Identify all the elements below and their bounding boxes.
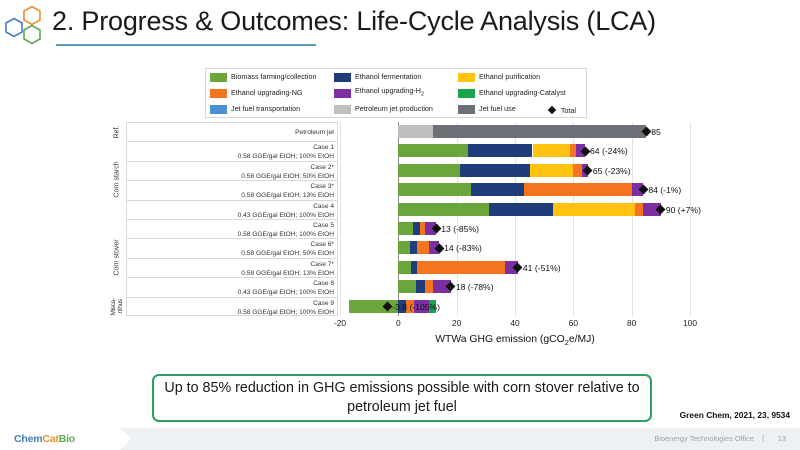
bar-value-label: 64 (-24%) <box>590 145 628 158</box>
footer-page-number: 13 <box>778 434 786 443</box>
legend-item-petroleum-jet-production: Petroleum jet production <box>334 101 458 117</box>
legend-swatch-icon <box>458 89 475 98</box>
gridline <box>690 122 691 316</box>
slide-header: 2. Progress & Outcomes: Life-Cycle Analy… <box>0 0 800 56</box>
legend-label: Jet fuel use <box>479 105 516 112</box>
legend-item-ethanol-upgrading-ng: Ethanol upgrading-NG <box>210 85 334 101</box>
bar-value-label: 18 (-78%) <box>456 281 494 294</box>
legend-label: Ethanol upgrading-NG <box>231 89 303 96</box>
legend-swatch-icon <box>458 105 475 114</box>
category-case-name: Case 4 <box>127 202 334 211</box>
bar-row[interactable]: 18 (-78%) <box>340 277 690 296</box>
bar-segment-biomass-farming <box>398 222 413 235</box>
chart-plot-area: Petroleum jetCase 10.58 GGE/gal EtOH; 10… <box>110 122 690 366</box>
bar-segment-ethanol-fermentation <box>489 203 553 216</box>
bar-row[interactable]: 64 (-24%) <box>340 141 690 160</box>
bar-value-label: 90 (+7%) <box>666 204 701 217</box>
legend-swatch-icon <box>458 73 475 82</box>
category-case-detail: 0.58 GGE/gal EtOH; 100% EtOH <box>127 308 334 317</box>
citation-text: Green Chem, 2021, 23, 9534 <box>680 410 790 420</box>
bar-segment-ethanol-upgrading-ng <box>635 203 644 216</box>
legend-label: Biomass farming/collection <box>231 73 317 80</box>
category-case-name: Case 1 <box>127 143 334 152</box>
bar-segment-ethanol-fermentation <box>468 144 532 157</box>
category-label-text: Petroleum jet <box>127 124 334 142</box>
category-axis-labels: Petroleum jetCase 10.58 GGE/gal EtOH; 10… <box>110 122 340 316</box>
bar-segment-ethanol-upgrading-ng <box>417 261 505 274</box>
bar-segment-biomass-farming <box>398 164 459 177</box>
legend-label: Ethanol fermentation <box>355 73 421 80</box>
bar-value-label: 84 (-1%) <box>648 184 681 197</box>
category-case-name: Case 6* <box>127 240 334 249</box>
category-label-row: Case 6*0.58 GGE/gal EtOH; 50% EtOH <box>126 238 338 257</box>
bar-value-label: 85 <box>651 126 661 139</box>
legend-item-ethanol-fermentation: Ethanol fermentation <box>334 69 458 85</box>
category-label-row: Case 7*0.58 GGE/gal EtOH; 13% EtOH <box>126 258 338 277</box>
x-tick-label: 40 <box>510 318 519 328</box>
category-case-name: Case 5 <box>127 221 334 230</box>
bar-segment-ethanol-purification <box>533 144 571 157</box>
bar-segment-ethanol-upgrading-ng <box>417 241 429 254</box>
bar-row[interactable]: 13 (-85%) <box>340 219 690 238</box>
group-label: Misca-nthus <box>110 297 124 316</box>
brand-cat: Cat <box>42 433 58 445</box>
category-label-row: Case 40.43 GGE/gal EtOH; 100% EtOH <box>126 200 338 219</box>
legend-item-biomass-farming: Biomass farming/collection <box>210 69 334 85</box>
x-axis-ticks: -20020406080100 <box>340 318 690 332</box>
bar-segment-ethanol-purification <box>553 203 635 216</box>
bar-row[interactable]: -3.8 (-105%) <box>340 297 690 316</box>
bar-value-label: 65 (-23%) <box>593 165 631 178</box>
legend-item-ethanol-upgrading-catalyst: Ethanol upgrading-Catalyst <box>458 85 582 101</box>
x-tick-label: 20 <box>452 318 461 328</box>
bar-segment-ethanol-upgrading-ng <box>425 280 434 293</box>
bar-segment-biomass-farming <box>398 203 488 216</box>
category-label-row: Case 50.58 GGE/gal EtOH; 100% EtOH <box>126 219 338 238</box>
legend-total-label: Total <box>561 107 576 114</box>
bar-value-label: 13 (-85%) <box>441 223 479 236</box>
category-case-name: Case 9 <box>127 299 334 308</box>
brand-chem: Chem <box>14 433 42 445</box>
slide-footer: ChemCatBio Bioenergy Technologies Office… <box>0 428 800 450</box>
bar-segment-biomass-farming <box>398 183 471 196</box>
x-tick-label: 0 <box>396 318 401 328</box>
legend-swatch-icon <box>210 73 227 82</box>
bar-segment-biomass-farming <box>398 144 468 157</box>
legend-label: Ethanol upgrading-Catalyst <box>479 89 566 96</box>
x-axis-title: WTWa GHG emission (gCO2e/MJ) <box>340 334 690 347</box>
chart-legend: Biomass farming/collectionEthanol fermen… <box>205 68 587 118</box>
group-label: Corn stover <box>110 219 124 297</box>
bar-segment-petroleum-jet-production <box>398 125 433 138</box>
chemcatbio-wordmark: ChemCatBio <box>14 433 75 445</box>
brand-bio: Bio <box>59 433 75 445</box>
category-label-row: Case 90.58 GGE/gal EtOH; 100% EtOH <box>126 297 338 316</box>
bar-segment-ethanol-upgrading-ng <box>573 164 582 177</box>
bar-row[interactable]: 84 (-1%) <box>340 180 690 199</box>
category-label-row: Petroleum jet <box>126 122 338 141</box>
page-title: 2. Progress & Outcomes: Life-Cycle Analy… <box>52 6 782 37</box>
x-tick-label: -20 <box>334 318 346 328</box>
legend-swatch-icon <box>334 105 351 114</box>
legend-label: Ethanol purification <box>479 73 540 80</box>
legend-item-total: Total <box>549 107 580 114</box>
bar-segment-jet-fuel-use <box>433 125 646 138</box>
bar-segment-biomass-farming <box>398 241 410 254</box>
category-label-row: Case 3*0.58 GGE/gal EtOH; 13% EtOH <box>126 180 338 199</box>
legend-item-ethanol-purification: Ethanol purification <box>458 69 582 85</box>
bar-row[interactable]: 14 (-83%) <box>340 238 690 257</box>
bar-segment-ethanol-fermentation <box>471 183 524 196</box>
category-case-name: Case 3* <box>127 182 334 191</box>
bar-segment-biomass-farming <box>398 261 411 274</box>
group-label: Corn starch <box>110 141 124 219</box>
category-label-row: Case 2*0.58 GGE/gal EtOH; 50% EtOH <box>126 161 338 180</box>
bar-segment-ethanol-upgrading-ng <box>524 183 632 196</box>
legend-swatch-icon <box>334 73 351 82</box>
legend-swatch-icon <box>210 105 227 114</box>
x-tick-label: 80 <box>627 318 636 328</box>
footer-office-label: Bioenergy Technologies Office <box>654 434 754 443</box>
legend-label: Petroleum jet production <box>355 105 433 112</box>
diamond-icon <box>548 106 556 114</box>
group-label: Ref. <box>110 122 124 141</box>
bar-row[interactable]: 90 (+7%) <box>340 200 690 219</box>
legend-label: Jet fuel transportation <box>231 105 300 112</box>
bar-value-label: -3.8 (-105%) <box>392 301 440 314</box>
legend-swatch-icon <box>210 89 227 98</box>
lca-ghg-chart: Biomass farming/collectionEthanol fermen… <box>110 66 690 366</box>
category-case-name: Case 8 <box>127 279 334 288</box>
bar-value-label: 14 (-83%) <box>444 242 482 255</box>
callout-text: Up to 85% reduction in GHG emissions pos… <box>154 379 650 417</box>
chemcatbio-hexagon-logo <box>4 4 56 52</box>
bar-segment-ethanol-fermentation <box>460 164 530 177</box>
legend-item-ethanol-upgrading-h2: Ethanol upgrading-H2 <box>334 85 458 101</box>
category-label-row: Case 10.58 GGE/gal EtOH; 100% EtOH <box>126 141 338 160</box>
key-finding-callout: Up to 85% reduction in GHG emissions pos… <box>152 374 652 422</box>
footer-divider: | <box>762 433 764 442</box>
bar-row[interactable]: 85 <box>340 122 690 141</box>
bar-segment-ethanol-fermentation <box>416 280 425 293</box>
legend-label: Ethanol upgrading-H2 <box>355 87 424 98</box>
title-underline <box>56 44 316 46</box>
x-tick-label: 100 <box>683 318 697 328</box>
category-label-row: Case 80.43 GGE/gal EtOH; 100% EtOH <box>126 277 338 296</box>
bar-segment-biomass-farming <box>398 280 416 293</box>
bar-row[interactable]: 65 (-23%) <box>340 161 690 180</box>
category-case-name: Case 2* <box>127 163 334 172</box>
legend-item-jet-fuel-transportation: Jet fuel transportation <box>210 101 334 117</box>
bar-value-label: 41 (-51%) <box>523 262 561 275</box>
bar-row[interactable]: 41 (-51%) <box>340 258 690 277</box>
legend-swatch-icon <box>334 89 351 98</box>
bar-segment-ethanol-purification <box>530 164 574 177</box>
x-tick-label: 60 <box>569 318 578 328</box>
category-case-name: Case 7* <box>127 260 334 269</box>
bar-segment-ethanol-fermentation <box>413 222 420 235</box>
bars-canvas: 8564 (-24%)65 (-23%)84 (-1%)90 (+7%)13 (… <box>340 122 690 316</box>
bar-segment-ethanol-fermentation <box>410 241 417 254</box>
